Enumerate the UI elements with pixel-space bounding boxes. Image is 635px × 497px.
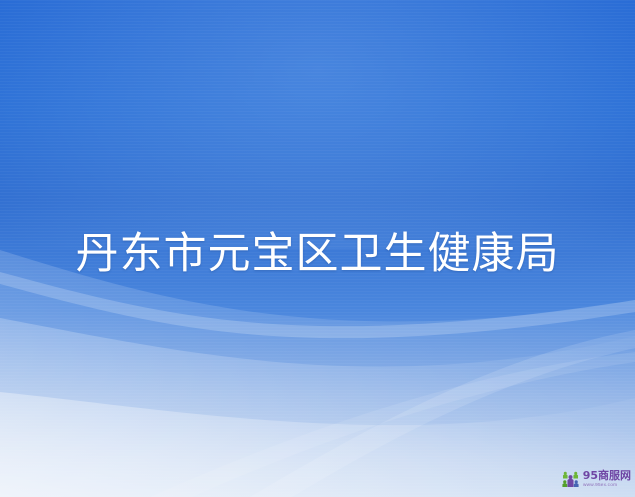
page-title: 丹东市元宝区卫生健康局 — [76, 233, 560, 276]
watermark: 95商服网 www.95ex.com — [561, 469, 631, 488]
site-header-banner: 丹东市元宝区卫生健康局 95商服网 www.95ex.com — [0, 0, 635, 497]
page-title-container: 丹东市元宝区卫生健康局 — [0, 222, 635, 286]
people-group-icon — [561, 469, 580, 488]
watermark-site-name: 95商服网 — [583, 470, 631, 481]
background-glow — [0, 0, 635, 249]
watermark-site-url: www.95ex.com — [583, 483, 617, 488]
watermark-text: 95商服网 www.95ex.com — [583, 470, 631, 488]
